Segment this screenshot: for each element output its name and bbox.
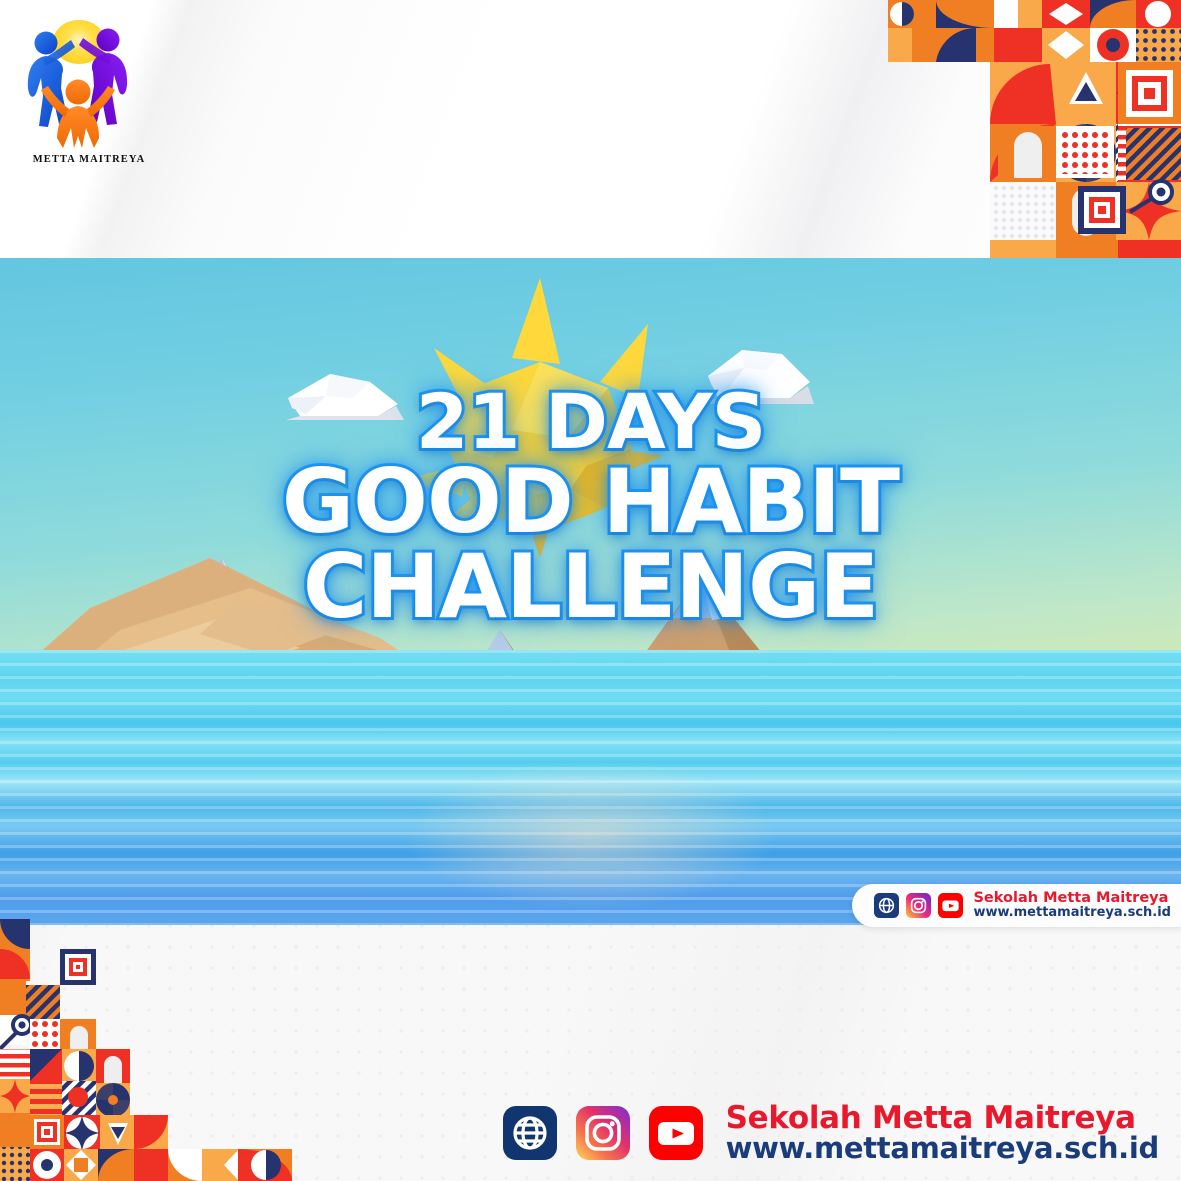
hero-social-badge: Sekolah Metta Maitreya www.mettamaitreya… bbox=[852, 884, 1181, 927]
youtube-icon[interactable] bbox=[649, 1106, 703, 1160]
logo-wordmark: METTA MAITREYA bbox=[19, 154, 159, 165]
bauhaus-pattern-bottom-left bbox=[0, 919, 292, 1181]
footer-school-name: Sekolah Metta Maitreya bbox=[726, 1103, 1159, 1134]
footer-social-bar: Sekolah Metta Maitreya www.mettamaitreya… bbox=[503, 1103, 1159, 1163]
hero-title-line-2: GOOD HABIT bbox=[0, 459, 1181, 544]
globe-icon[interactable] bbox=[503, 1106, 557, 1160]
hero-title: 21 DAYS GOOD HABIT CHALLENGE bbox=[0, 385, 1181, 629]
globe-icon[interactable] bbox=[874, 893, 899, 918]
instagram-icon[interactable] bbox=[906, 893, 931, 918]
three-people-circle-sun-icon bbox=[19, 16, 159, 151]
bauhaus-pattern-top-right bbox=[880, 0, 1181, 260]
instagram-icon[interactable] bbox=[576, 1106, 630, 1160]
footer-website: www.mettamaitreya.sch.id bbox=[726, 1134, 1159, 1163]
youtube-icon[interactable] bbox=[938, 893, 963, 918]
hero-badge-website: www.mettamaitreya.sch.id bbox=[973, 906, 1171, 919]
hero-title-line-3: CHALLENGE bbox=[0, 544, 1181, 629]
poster-canvas: METTA MAITREYA bbox=[0, 0, 1181, 1181]
hero-badge-school-name: Sekolah Metta Maitreya bbox=[973, 891, 1171, 906]
hero-title-line-1: 21 DAYS bbox=[0, 385, 1181, 459]
water-sun-glow bbox=[402, 760, 780, 911]
brand-logo: METTA MAITREYA bbox=[19, 16, 159, 174]
